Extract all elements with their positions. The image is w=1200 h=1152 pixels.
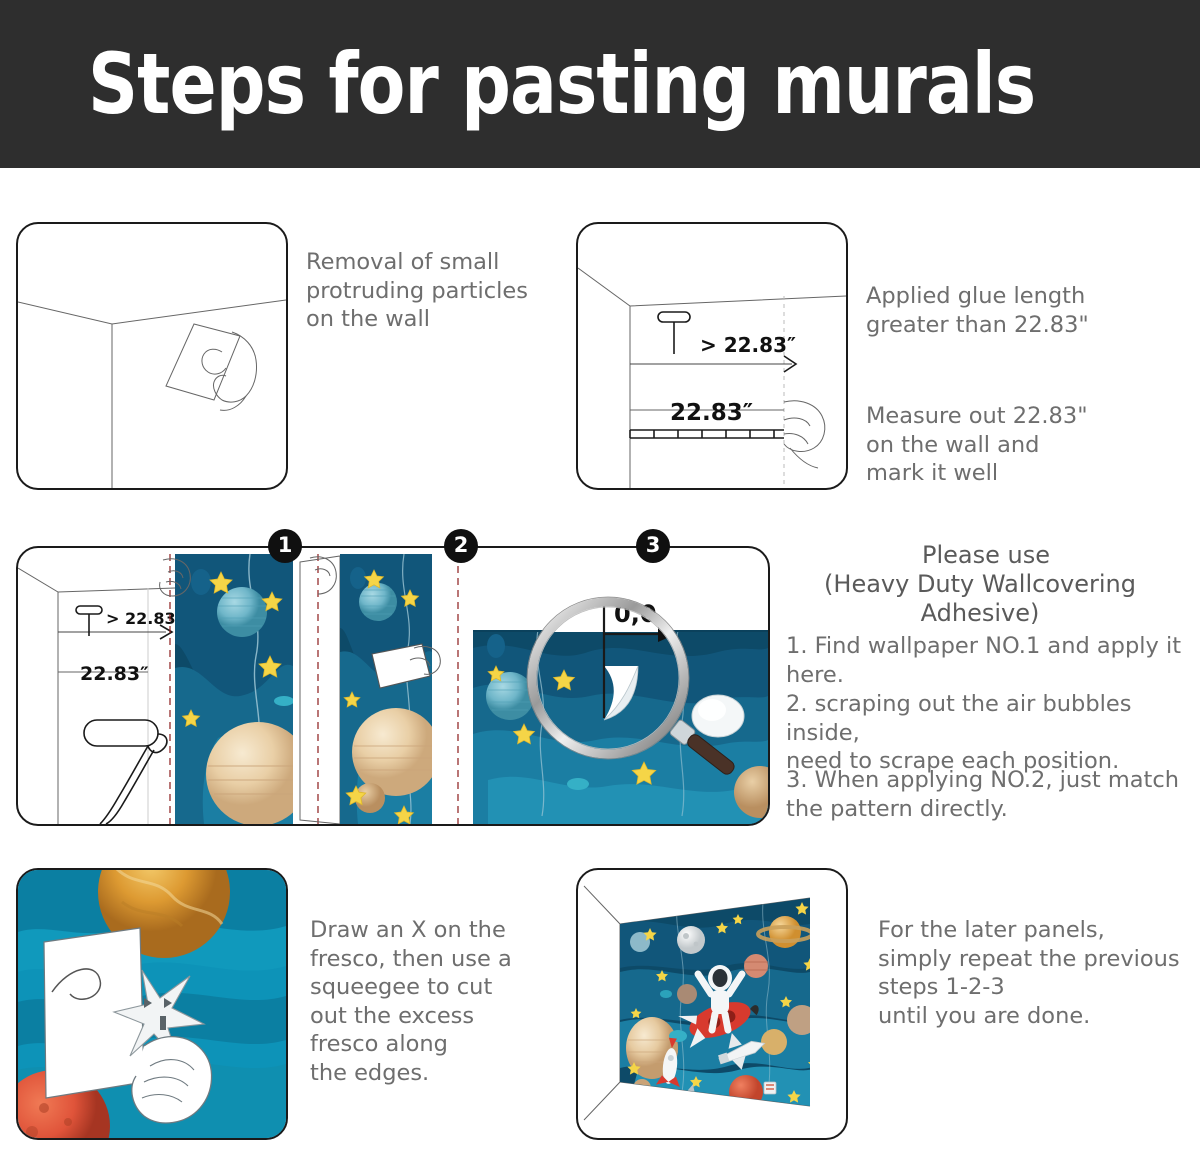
step2-glue-dimension: > 22.83″ <box>700 333 796 357</box>
glue-measure-drawing: > 22.83″ 22.83″ <box>578 224 846 488</box>
wall-corner-drawing <box>18 224 286 488</box>
finished-mural-drawing <box>578 870 846 1138</box>
step2-caption-glue: Applied glue length greater than 22.83" <box>866 282 1166 339</box>
step5-caption: For the later panels, simply repeat the … <box>878 916 1198 1030</box>
step-badge-2: 2 <box>444 529 478 563</box>
step1-panel <box>16 222 288 490</box>
svg-text:> 22.83″: > 22.83″ <box>106 609 183 628</box>
instruction-3: 3. When applying NO.2, just match the pa… <box>786 766 1186 823</box>
page-title: Steps for pasting murals <box>88 36 1035 132</box>
step1-caption: Removal of small protruding particles on… <box>306 248 576 334</box>
step-badge-3: 3 <box>636 529 670 563</box>
step4-panel <box>16 868 288 1140</box>
step3-panel: > 22.83″ 22.83″ <box>16 546 770 826</box>
trim-excess-drawing <box>18 870 286 1138</box>
svg-text:22.83″: 22.83″ <box>80 663 149 685</box>
step2-tape-dimension: 22.83″ <box>670 400 753 426</box>
adhesive-heading-line1: Please use <box>786 541 1186 570</box>
instruction-2: 2. scraping out the air bubbles inside, … <box>786 690 1186 776</box>
instruction-1: 1. Find wallpaper NO.1 and apply it here… <box>786 632 1186 689</box>
step-badge-1: 1 <box>268 529 302 563</box>
adhesive-heading-line2: (Heavy Duty Wallcovering Adhesive) <box>762 570 1198 627</box>
three-step-drawing: > 22.83″ 22.83″ <box>18 548 768 824</box>
step2-panel: > 22.83″ 22.83″ <box>576 222 848 490</box>
page-header: Steps for pasting murals <box>0 0 1200 168</box>
step2-caption-measure: Measure out 22.83" on the wall and mark … <box>866 402 1166 488</box>
step5-panel <box>576 868 848 1140</box>
step4-caption: Draw an X on the fresco, then use a sque… <box>310 916 560 1087</box>
